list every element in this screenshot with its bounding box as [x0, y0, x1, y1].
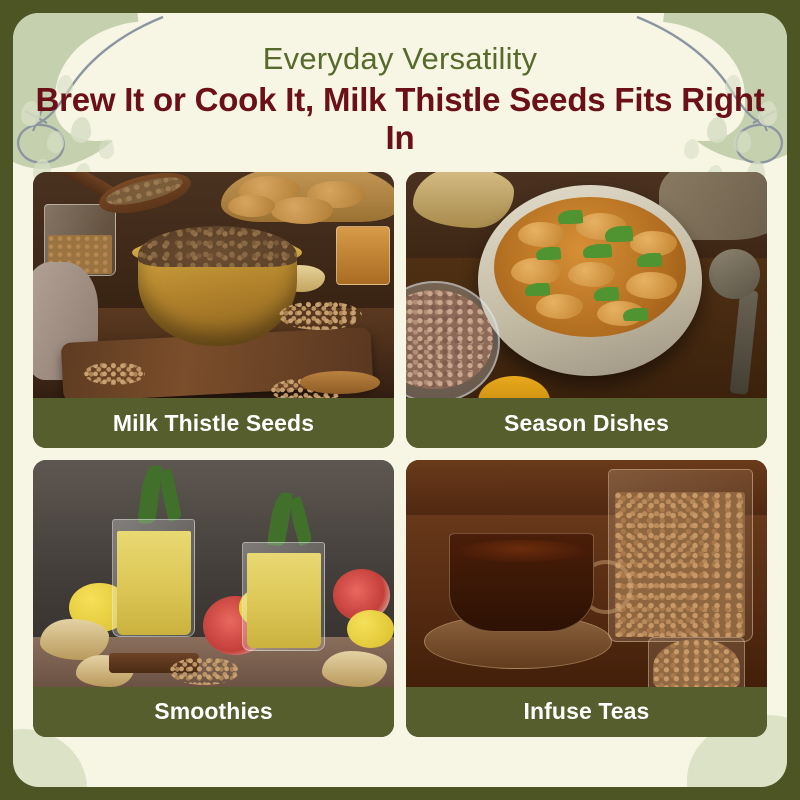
- tile-smoothies[interactable]: Smoothies: [33, 460, 394, 737]
- poster-inner-card: Everyday Versatility Brew It or Cook It,…: [13, 13, 787, 787]
- page-title: Brew It or Cook It, Milk Thistle Seeds F…: [13, 81, 787, 158]
- tile-infuse-teas[interactable]: Infuse Teas: [406, 460, 767, 737]
- photo-milk-thistle-seeds: [33, 172, 394, 399]
- tile-milk-thistle-seeds[interactable]: Milk Thistle Seeds: [33, 172, 394, 449]
- tile-caption-season-dishes: Season Dishes: [406, 398, 767, 448]
- tile-grid: Milk Thistle Seeds: [13, 172, 787, 757]
- tile-season-dishes[interactable]: Season Dishes: [406, 172, 767, 449]
- tile-caption-milk-thistle-seeds: Milk Thistle Seeds: [33, 398, 394, 448]
- poster-frame: Everyday Versatility Brew It or Cook It,…: [0, 0, 800, 800]
- tile-caption-infuse-teas: Infuse Teas: [406, 687, 767, 737]
- photo-season-dishes: [406, 172, 767, 399]
- photo-smoothies: [33, 460, 394, 687]
- eyebrow-subtitle: Everyday Versatility: [13, 41, 787, 77]
- photo-infuse-teas: [406, 460, 767, 687]
- heading-block: Everyday Versatility Brew It or Cook It,…: [13, 13, 787, 158]
- tile-caption-smoothies: Smoothies: [33, 687, 394, 737]
